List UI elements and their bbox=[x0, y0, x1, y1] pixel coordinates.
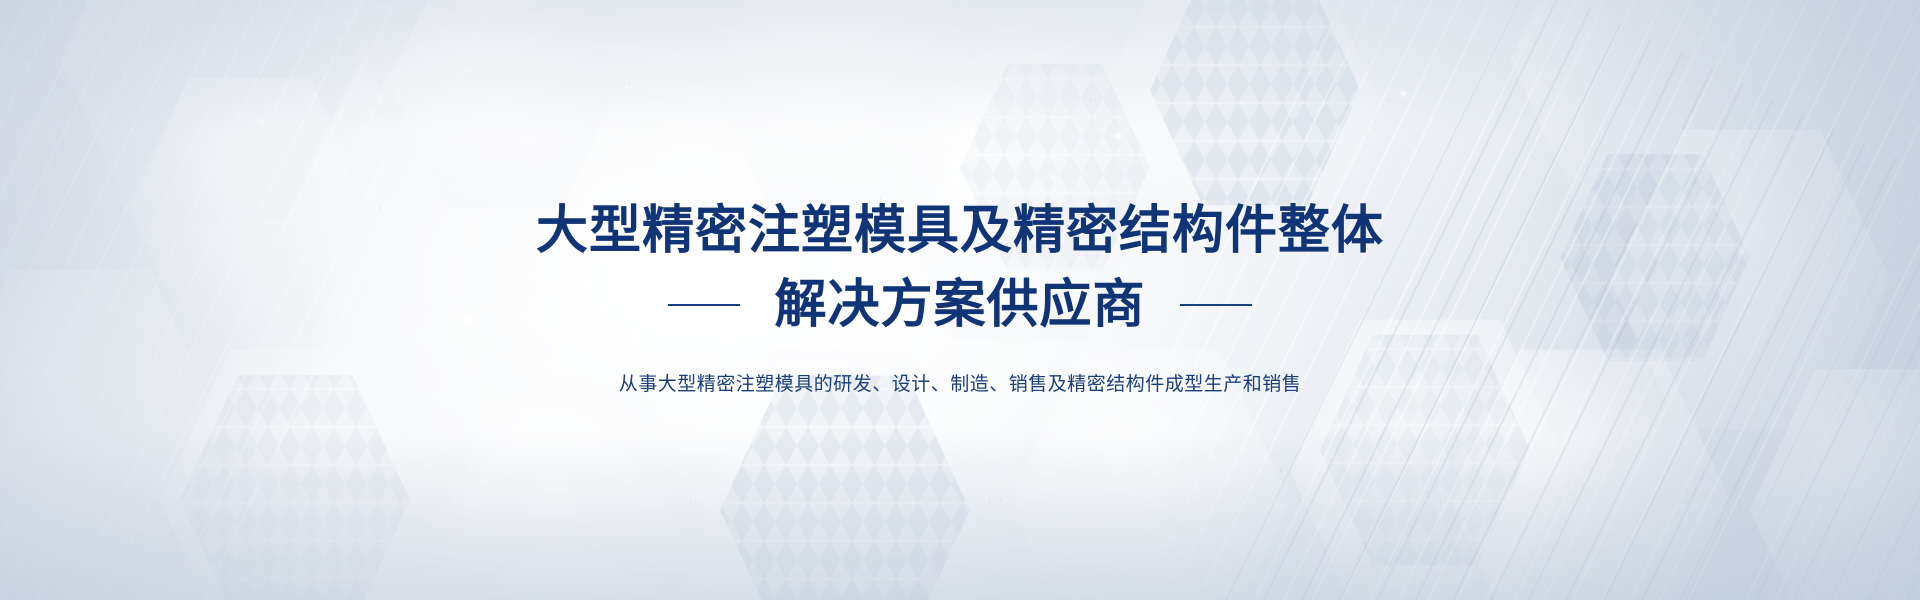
right-dash-decoration bbox=[1180, 304, 1252, 306]
hero-banner: 大型精密注塑模具及精密结构件整体 解决方案供应商 从事大型精密注塑模具的研发、设… bbox=[0, 0, 1920, 600]
banner-title-line-2: 解决方案供应商 bbox=[774, 279, 1145, 331]
banner-content: 大型精密注塑模具及精密结构件整体 解决方案供应商 从事大型精密注塑模具的研发、设… bbox=[0, 0, 1920, 600]
banner-subtitle: 从事大型精密注塑模具的研发、设计、制造、销售及精密结构件成型生产和销售 bbox=[619, 369, 1302, 396]
banner-title-row-2: 解决方案供应商 bbox=[668, 279, 1251, 331]
left-dash-decoration bbox=[668, 304, 740, 306]
banner-title-line-1: 大型精密注塑模具及精密结构件整体 bbox=[536, 205, 1384, 257]
